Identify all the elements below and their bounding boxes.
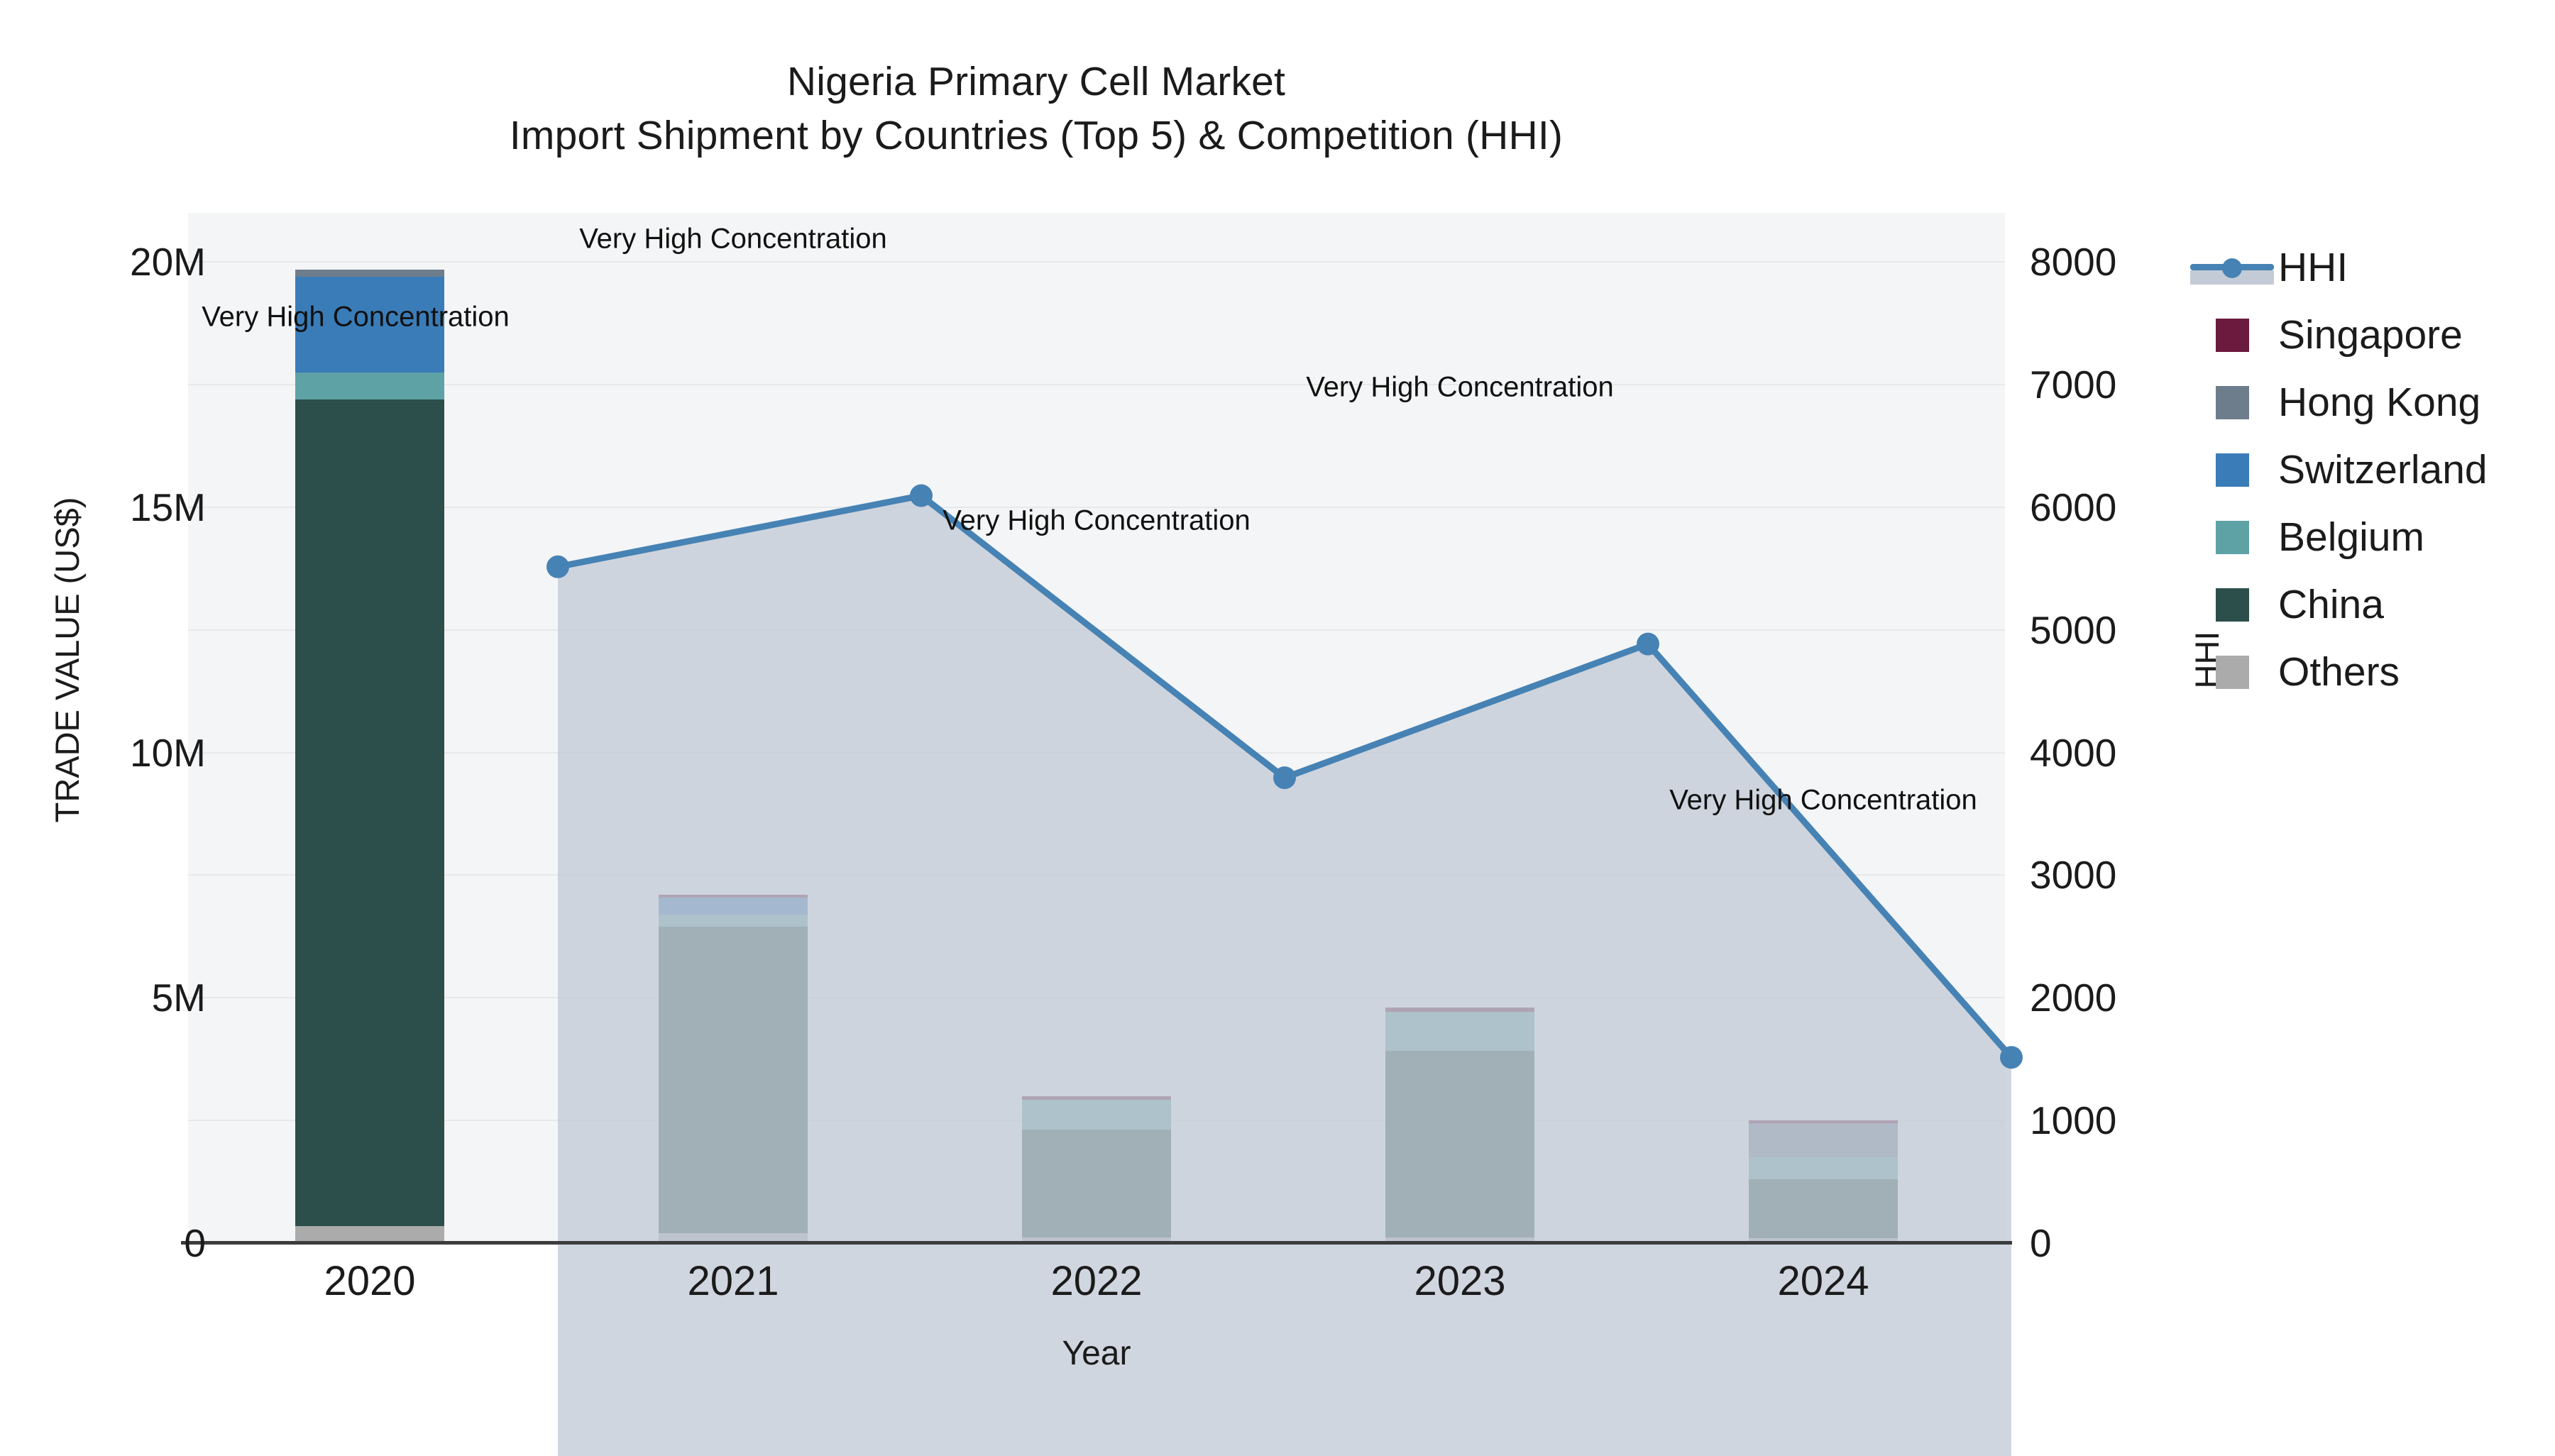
bar-segment-china[interactable] — [295, 399, 444, 1226]
legend-swatch — [2186, 234, 2278, 302]
plot-area — [188, 213, 2005, 1243]
bar-segment-hong-kong[interactable] — [295, 270, 444, 277]
chart-canvas: Nigeria Primary Cell Market Import Shipm… — [0, 0, 2555, 1437]
color-swatch-icon — [2216, 656, 2249, 689]
bar-segment-singapore[interactable] — [1749, 1120, 1898, 1123]
y-tick-left: 10M — [0, 730, 206, 776]
y-tick-left: 15M — [0, 485, 206, 530]
bar-stack-2021[interactable] — [659, 213, 808, 1243]
y-axis-left-label: TRADE VALUE (US$) — [43, 270, 92, 1050]
x-tick-2024: 2024 — [1674, 1257, 1972, 1305]
chart-title: Nigeria Primary Cell Market Import Shipm… — [0, 55, 2072, 163]
legend-swatch — [2186, 571, 2278, 639]
legend: HHISingaporeHong KongSwitzerlandBelgiumC… — [2186, 234, 2555, 706]
y-tick-right: 4000 — [2030, 730, 2314, 776]
bar-stack-2020[interactable] — [295, 213, 444, 1243]
bar-segment-belgium[interactable] — [1749, 1157, 1898, 1179]
bar-stack-2024[interactable] — [1749, 213, 1898, 1243]
chart-title-main: Nigeria Primary Cell Market — [0, 55, 2072, 109]
legend-swatch — [2186, 504, 2278, 571]
color-swatch-icon — [2216, 319, 2249, 352]
y-tick-right: 3000 — [2030, 852, 2314, 898]
legend-label: China — [2278, 585, 2384, 625]
y-tick-left: 20M — [0, 239, 206, 285]
color-swatch-icon — [2216, 386, 2249, 419]
bar-segment-belgium[interactable] — [1022, 1100, 1171, 1129]
y-tick-right: 1000 — [2030, 1098, 2314, 1143]
legend-item-hong-kong[interactable]: Hong Kong — [2186, 369, 2555, 436]
color-swatch-icon — [2216, 521, 2249, 554]
annotation-2021: Very High Concentration — [579, 223, 887, 255]
hhi-point-2020[interactable] — [546, 556, 569, 578]
x-tick-2022: 2022 — [947, 1257, 1246, 1305]
bar-segment-china[interactable] — [1022, 1130, 1171, 1237]
bar-stack-2023[interactable] — [1385, 213, 1534, 1243]
bar-segment-hong-kong[interactable] — [1749, 1123, 1898, 1157]
bar-segment-china[interactable] — [1385, 1051, 1534, 1237]
x-tick-2021: 2021 — [584, 1257, 882, 1305]
bar-segment-belgium[interactable] — [659, 915, 808, 927]
hhi-point-2022[interactable] — [1273, 766, 1296, 789]
x-tick-2023: 2023 — [1311, 1257, 1609, 1305]
x-axis-line — [181, 1241, 2012, 1245]
color-swatch-icon — [2216, 588, 2249, 622]
legend-swatch — [2186, 369, 2278, 436]
bar-segment-singapore[interactable] — [1385, 1008, 1534, 1012]
hhi-point-2023[interactable] — [1637, 633, 1659, 656]
bar-stack-2022[interactable] — [1022, 213, 1171, 1243]
x-axis-label: Year — [188, 1334, 2005, 1373]
legend-item-china[interactable]: China — [2186, 571, 2555, 639]
y-tick-right: 2000 — [2030, 975, 2314, 1020]
annotation-2020: Very High Concentration — [202, 301, 510, 333]
chart-subtitle: Import Shipment by Countries (Top 5) & C… — [0, 109, 2072, 163]
annotation-2023: Very High Concentration — [1306, 371, 1614, 403]
y-tick-left: 0 — [0, 1220, 206, 1266]
legend-swatch — [2186, 639, 2278, 706]
bar-segment-singapore[interactable] — [659, 895, 808, 897]
legend-swatch — [2186, 302, 2278, 369]
legend-label: Others — [2278, 652, 2400, 693]
bar-segment-singapore[interactable] — [1022, 1096, 1171, 1100]
x-tick-2020: 2020 — [221, 1257, 519, 1305]
bar-segment-switzerland[interactable] — [659, 898, 808, 915]
annotation-2024: Very High Concentration — [1669, 785, 1977, 817]
hhi-point-2021[interactable] — [910, 485, 933, 507]
legend-label: Singapore — [2278, 315, 2463, 355]
legend-swatch — [2186, 436, 2278, 504]
bar-segment-belgium[interactable] — [295, 373, 444, 399]
legend-item-singapore[interactable]: Singapore — [2186, 302, 2555, 369]
legend-label: Belgium — [2278, 517, 2424, 558]
legend-item-hhi[interactable]: HHI — [2186, 234, 2555, 302]
color-swatch-icon — [2216, 453, 2249, 487]
bar-segment-china[interactable] — [1749, 1179, 1898, 1238]
y-tick-right: 0 — [2030, 1220, 2314, 1266]
bar-segment-belgium[interactable] — [1385, 1012, 1534, 1051]
bar-segment-china[interactable] — [659, 927, 808, 1233]
legend-item-switzerland[interactable]: Switzerland — [2186, 436, 2555, 504]
y-tick-left: 5M — [0, 975, 206, 1020]
legend-item-belgium[interactable]: Belgium — [2186, 504, 2555, 571]
hhi-line-icon — [2190, 252, 2274, 285]
legend-item-others[interactable]: Others — [2186, 639, 2555, 706]
legend-label: HHI — [2278, 248, 2348, 288]
legend-label: Switzerland — [2278, 450, 2488, 490]
annotation-2022: Very High Concentration — [943, 505, 1251, 537]
hhi-point-2024[interactable] — [2000, 1046, 2023, 1069]
legend-label: Hong Kong — [2278, 382, 2480, 423]
